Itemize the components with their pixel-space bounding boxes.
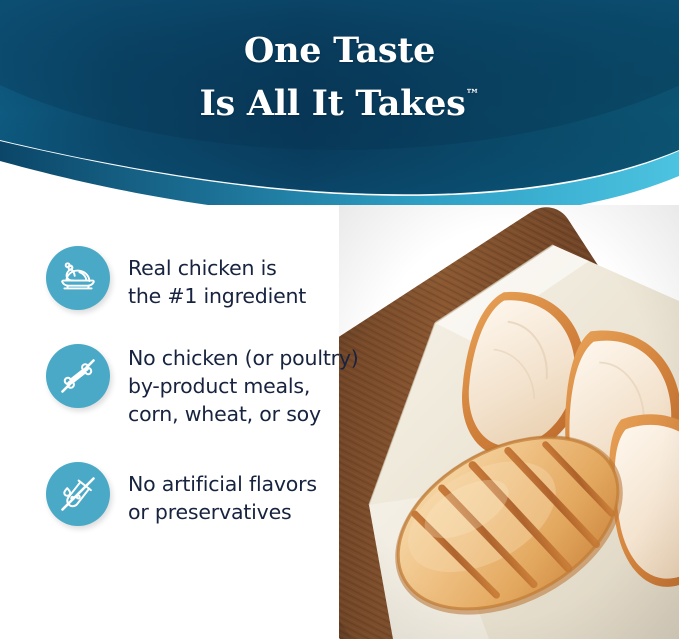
feature-item-no-byproduct: No chicken (or poultry) by-product meals…	[46, 344, 446, 428]
header-banner: One Taste Is All It Takes™	[0, 0, 679, 205]
trademark-symbol: ™	[466, 87, 480, 103]
feature-label-no-byproduct: No chicken (or poultry) by-product meals…	[128, 344, 359, 428]
feature-list: Real chicken is the #1 ingredient	[46, 246, 446, 526]
feature-label-real-chicken: Real chicken is the #1 ingredient	[128, 246, 306, 310]
marketing-infographic: One Taste Is All It Takes™	[0, 0, 679, 639]
no-test-tube-icon	[46, 462, 110, 526]
no-bone-meal-icon	[46, 344, 110, 408]
title-line-2-wrap: Is All It Takes™	[0, 73, 679, 126]
feature-item-no-artificial: No artificial flavors or preservatives	[46, 462, 446, 526]
title-line-1: One Taste	[0, 28, 679, 73]
feature-item-real-chicken: Real chicken is the #1 ingredient	[46, 246, 446, 310]
roast-chicken-platter-icon	[46, 246, 110, 310]
page-title: One Taste Is All It Takes™	[0, 28, 679, 126]
feature-label-no-artificial: No artificial flavors or preservatives	[128, 462, 317, 526]
title-line-2: Is All It Takes	[199, 83, 465, 124]
